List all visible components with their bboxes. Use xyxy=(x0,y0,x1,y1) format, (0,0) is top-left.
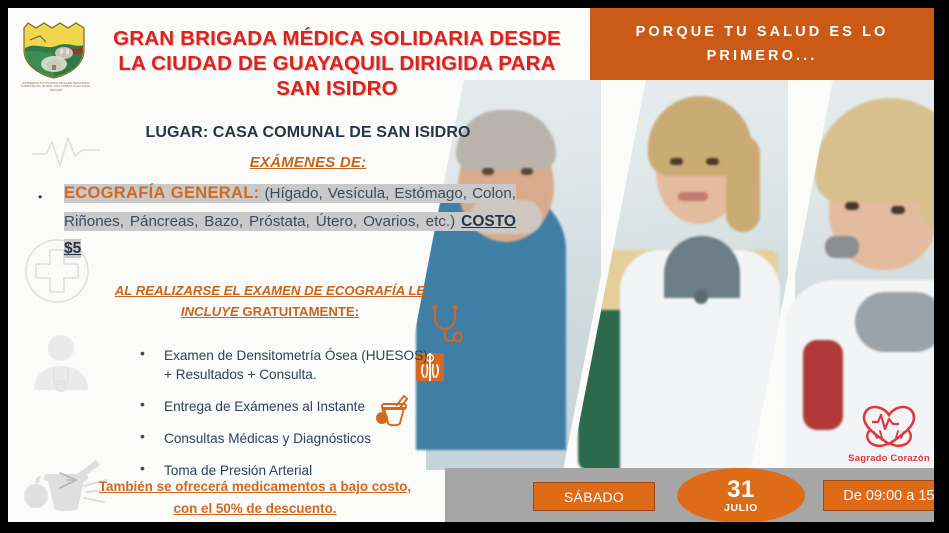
schedule-hours-badge: De 09:00 a 15:00 xyxy=(823,480,934,511)
slogan-line-1: PORQUE TU SALUD ES LO xyxy=(636,20,889,44)
ecography-block: ECOGRAFÍA GENERAL: (Hígado, Vesícula, Es… xyxy=(64,180,516,263)
includes-list: Examen de Densitometría Ósea (HUESOS) + … xyxy=(90,346,480,493)
logo-label: Sagrado Corazón xyxy=(846,453,932,464)
list-item-line1: Entrega de Exámenes al Instante xyxy=(164,399,365,414)
schedule-date-badge: 31 JULIO xyxy=(677,468,805,522)
doctor-watermark-icon xyxy=(24,328,98,402)
list-item-line2: + Resultados + Consulta. xyxy=(164,365,480,384)
discount-note: También se ofrecerá medicamentos a bajo … xyxy=(60,476,450,520)
schedule-date-number: 31 xyxy=(727,478,755,501)
discount-note-line1: También se ofrecerá medicamentos a bajo … xyxy=(60,476,450,498)
list-item: Consultas Médicas y Diagnósticos xyxy=(130,429,480,448)
flyer-slide: GOBIERNO AUTÓNOMO DESCENTRALIZADO PARROQ… xyxy=(0,0,949,533)
list-item: Examen de Densitometría Ósea (HUESOS) + … xyxy=(130,346,480,384)
list-item-line1: Examen de Densitometría Ósea (HUESOS) xyxy=(164,348,428,363)
schedule-bar: SÁBADO 31 JULIO De 09:00 a 15:00 xyxy=(445,468,934,522)
exams-heading-text: EXÁMENES DE: xyxy=(250,154,367,171)
includes-heading-part2: GRATUITAMENTE: xyxy=(242,304,359,319)
schedule-month: JULIO xyxy=(724,502,758,514)
location-line: LUGAR: CASA COMUNAL DE SAN ISIDRO xyxy=(108,124,508,142)
slogan-banner: PORQUE TU SALUD ES LO PRIMERO... xyxy=(590,8,934,80)
sagrado-corazon-logo: Sagrado Corazón xyxy=(846,400,932,466)
list-item: Entrega de Exámenes al Instante xyxy=(130,397,480,416)
heartbeat-watermark-icon xyxy=(30,132,102,172)
flyer-content-frame: GOBIERNO AUTÓNOMO DESCENTRALIZADO PARROQ… xyxy=(8,8,934,522)
ecography-bullet-marker: • xyxy=(38,190,42,204)
schedule-day-badge: SÁBADO xyxy=(533,482,655,511)
list-item-line1: Consultas Médicas y Diagnósticos xyxy=(164,431,371,446)
title-line-2: LA CIUDAD DE GUAYAQUIL DIRIGIDA PARA xyxy=(92,51,582,76)
coat-of-arms-emblem: GOBIERNO AUTÓNOMO DESCENTRALIZADO PARROQ… xyxy=(16,20,94,98)
discount-note-line2: con el 50% de descuento. xyxy=(60,498,450,520)
includes-heading: AL REALIZARSE EL EXAMEN DE ECOGRAFÍA LE … xyxy=(90,280,450,322)
ecography-title: ECOGRAFÍA GENERAL: xyxy=(64,184,259,202)
exams-heading: EXÁMENES DE: xyxy=(108,154,508,172)
crest-caption: GOBIERNO AUTÓNOMO DESCENTRALIZADO PARROQ… xyxy=(20,82,92,92)
heart-hands-icon xyxy=(846,400,932,450)
title-line-1: GRAN BRIGADA MÉDICA SOLIDARIA DESDE xyxy=(92,26,582,51)
slogan-line-2: PRIMERO... xyxy=(707,44,818,68)
